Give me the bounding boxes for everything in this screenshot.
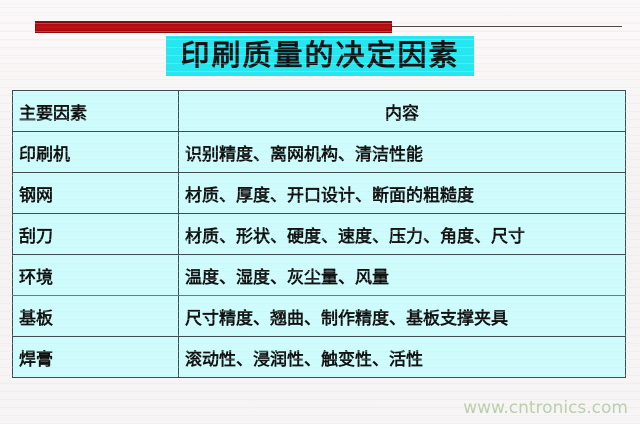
divider-red-bar [35, 21, 392, 33]
table-row: 刮刀 材质、形状、硬度、速度、压力、角度、尺寸 [13, 214, 626, 255]
cell-content: 材质、形状、硬度、速度、压力、角度、尺寸 [179, 214, 626, 255]
title-container: 印刷质量的决定因素 [0, 36, 640, 76]
cell-content: 材质、厚度、开口设计、断面的粗糙度 [179, 173, 626, 214]
slide-canvas: 印刷质量的决定因素 主要因素 内容 印刷机 识别精度、离网机构、清洁性能 钢网 … [0, 0, 640, 424]
table-row: 基板 尺寸精度、翘曲、制作精度、基板支撑夹具 [13, 296, 626, 337]
cell-content: 尺寸精度、翘曲、制作精度、基板支撑夹具 [179, 296, 626, 337]
cell-content: 滚动性、浸润性、触变性、活性 [179, 337, 626, 378]
table-row: 环境 温度、湿度、灰尘量、风量 [13, 255, 626, 296]
title-divider [0, 21, 640, 35]
site-watermark: www.cntronics.com [463, 398, 628, 418]
cell-factor: 印刷机 [13, 132, 179, 173]
cell-factor: 基板 [13, 296, 179, 337]
header-cell-factor: 主要因素 [13, 91, 179, 132]
cell-factor: 焊膏 [13, 337, 179, 378]
cell-factor: 环境 [13, 255, 179, 296]
table-header-row: 主要因素 内容 [13, 91, 626, 132]
table-row: 焊膏 滚动性、浸润性、触变性、活性 [13, 337, 626, 378]
header-cell-content: 内容 [179, 91, 626, 132]
quality-factors-table: 主要因素 内容 印刷机 识别精度、离网机构、清洁性能 钢网 材质、厚度、开口设计… [12, 90, 626, 378]
cell-content: 温度、湿度、灰尘量、风量 [179, 255, 626, 296]
cell-factor: 刮刀 [13, 214, 179, 255]
cell-content: 识别精度、离网机构、清洁性能 [179, 132, 626, 173]
page-title: 印刷质量的决定因素 [166, 36, 473, 76]
cell-factor: 钢网 [13, 173, 179, 214]
table-row: 印刷机 识别精度、离网机构、清洁性能 [13, 132, 626, 173]
table-row: 钢网 材质、厚度、开口设计、断面的粗糙度 [13, 173, 626, 214]
